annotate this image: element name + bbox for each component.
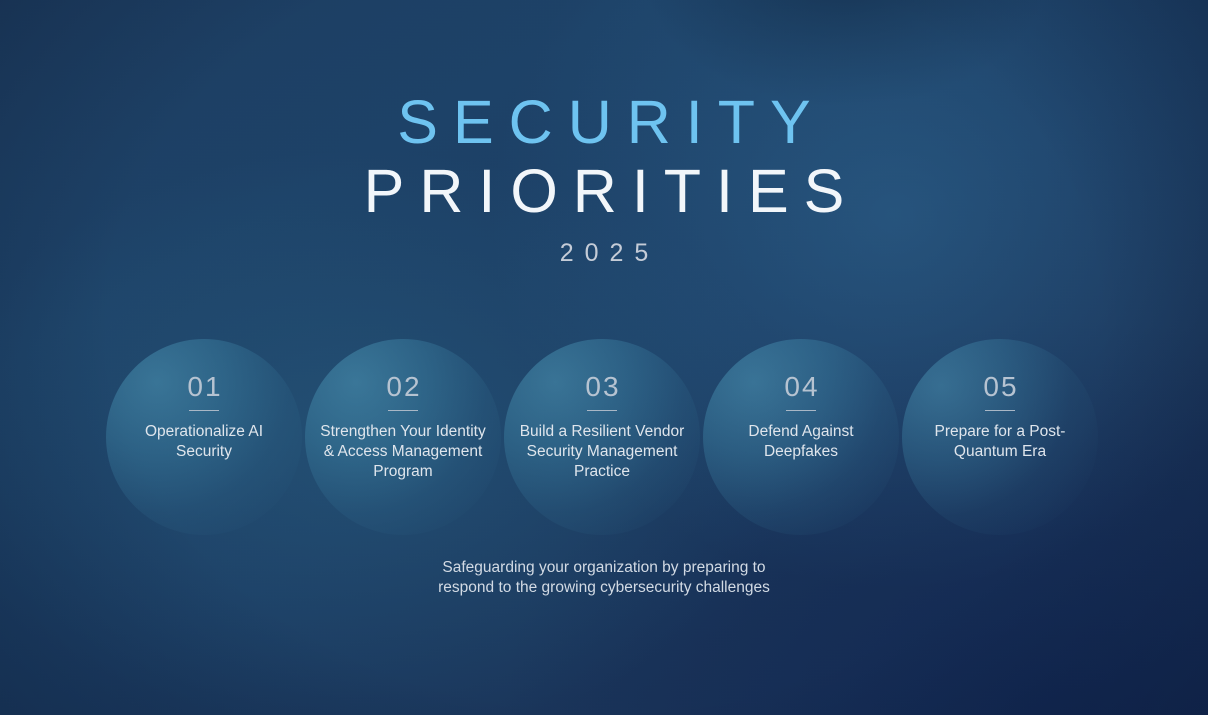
infographic-slide: SECURITY PRIORITIES 2025 01 Operationali…: [0, 0, 1208, 715]
priority-item-05[interactable]: 05 Prepare for a Post-Quantum Era: [902, 339, 1098, 535]
divider-rule: [587, 410, 617, 411]
priority-number: 01: [185, 372, 222, 402]
priority-content: 02 Strengthen Your Identity & Access Man…: [305, 339, 501, 535]
divider-rule: [189, 410, 219, 411]
footer-tagline: Safeguarding your organization by prepar…: [0, 558, 1208, 598]
page-title: SECURITY PRIORITIES 2025: [0, 88, 1208, 267]
priority-item-04[interactable]: 04 Defend Against Deepfakes: [703, 339, 899, 535]
priority-content: 04 Defend Against Deepfakes: [703, 339, 899, 535]
priority-number: 04: [782, 372, 819, 402]
title-line-security: SECURITY: [0, 88, 1208, 157]
priority-label: Operationalize AI Security: [116, 422, 292, 462]
priority-label: Defend Against Deepfakes: [713, 422, 889, 462]
priority-number: 02: [384, 372, 421, 402]
priority-item-01[interactable]: 01 Operationalize AI Security: [106, 339, 302, 535]
priority-label: Prepare for a Post-Quantum Era: [912, 422, 1088, 462]
divider-rule: [786, 410, 816, 411]
priority-content: 03 Build a Resilient Vendor Security Man…: [504, 339, 700, 535]
title-line-priorities: PRIORITIES: [0, 157, 1208, 226]
priority-number: 03: [583, 372, 620, 402]
priority-item-03[interactable]: 03 Build a Resilient Vendor Security Man…: [504, 339, 700, 535]
priority-circle-row: 01 Operationalize AI Security 02 Strengt…: [106, 339, 1102, 535]
priority-label: Build a Resilient Vendor Security Manage…: [514, 422, 690, 482]
footer-line-1: Safeguarding your organization by prepar…: [0, 558, 1208, 578]
divider-rule: [985, 410, 1015, 411]
priority-label: Strengthen Your Identity & Access Manage…: [315, 422, 491, 482]
priority-content: 05 Prepare for a Post-Quantum Era: [902, 339, 1098, 535]
priority-content: 01 Operationalize AI Security: [106, 339, 302, 535]
priority-number: 05: [981, 372, 1018, 402]
title-year: 2025: [0, 239, 1208, 267]
priority-item-02[interactable]: 02 Strengthen Your Identity & Access Man…: [305, 339, 501, 535]
footer-line-2: respond to the growing cybersecurity cha…: [0, 578, 1208, 598]
divider-rule: [388, 410, 418, 411]
